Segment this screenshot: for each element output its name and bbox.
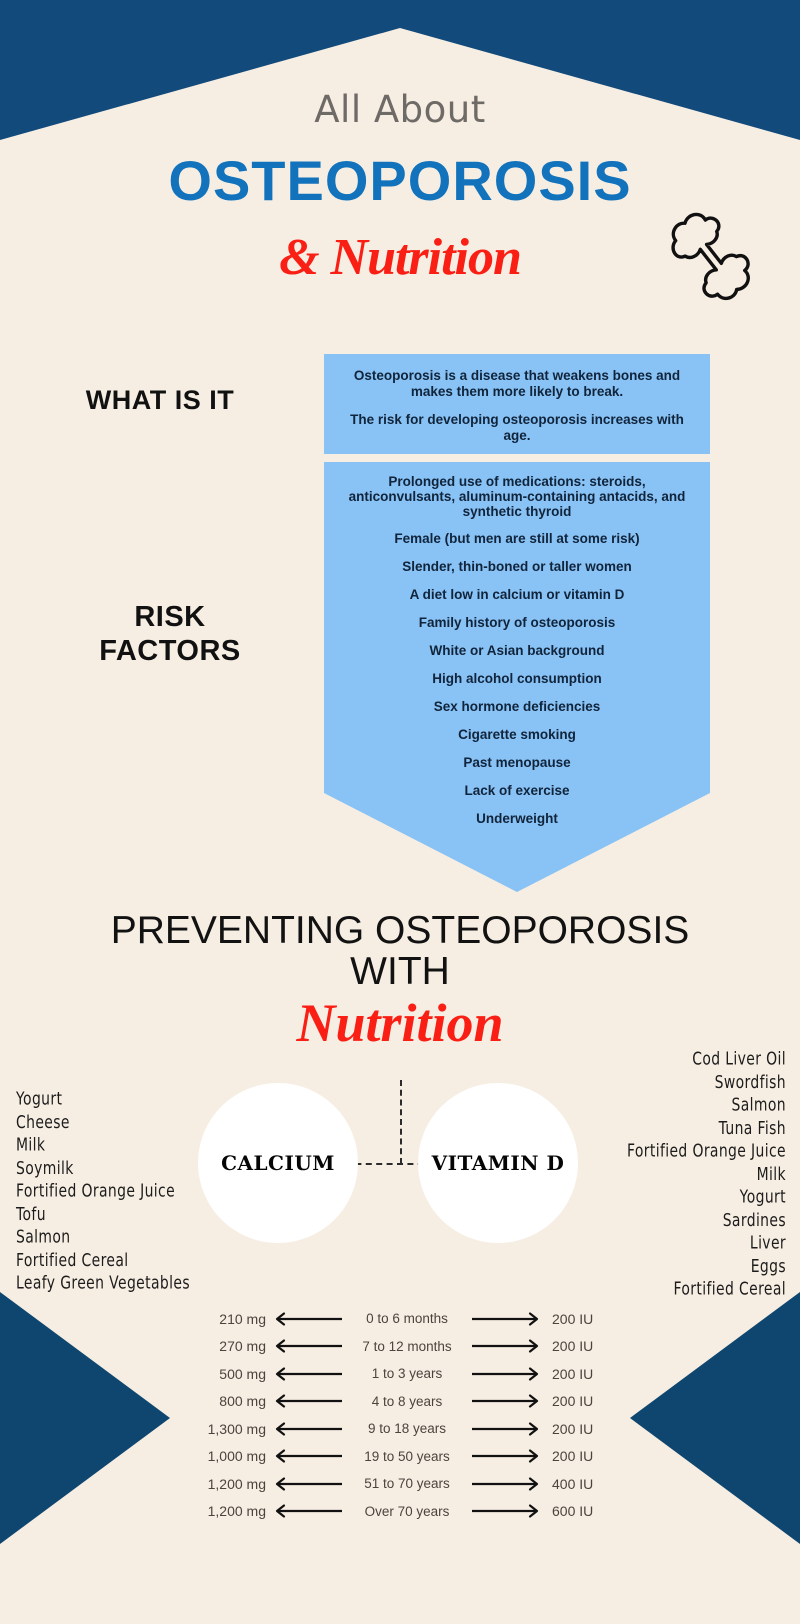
- calcium-food-item: Yogurt: [16, 1088, 239, 1111]
- calcium-value: 800 mg: [170, 1393, 272, 1409]
- calcium-value: 1,200 mg: [170, 1476, 272, 1492]
- vitamin-d-value: 200 IU: [542, 1393, 630, 1409]
- what-is-it-paragraph: Osteoporosis is a disease that weakens b…: [338, 368, 696, 400]
- table-row: 500 mg1 to 3 years200 IU: [170, 1360, 630, 1388]
- calcium-value: 1,200 mg: [170, 1503, 272, 1519]
- infographic-canvas: All About OSTEOPOROSIS & Nutrition WHAT …: [0, 0, 800, 1624]
- arrow-left-icon: [272, 1476, 346, 1492]
- vitamin-d-value: 400 IU: [542, 1476, 630, 1492]
- calcium-value: 210 mg: [170, 1311, 272, 1327]
- age-range: 4 to 8 years: [346, 1394, 468, 1409]
- risk-factor-item: Sex hormone deficiencies: [324, 699, 710, 715]
- header-eyebrow: All About: [0, 88, 800, 131]
- risk-factors-label-line1: RISK: [20, 600, 320, 634]
- risk-factor-item: Prolonged use of medications: steroids, …: [324, 474, 710, 519]
- arrow-right-icon: [468, 1448, 542, 1464]
- prevention-heading-script: Nutrition: [0, 992, 800, 1054]
- age-range: 1 to 3 years: [346, 1366, 468, 1381]
- bottom-left-triangle: [0, 1292, 170, 1544]
- arrow-right-icon: [468, 1476, 542, 1492]
- arrow-left-icon: [272, 1311, 346, 1327]
- vitamin-d-value: 200 IU: [542, 1366, 630, 1382]
- vitamin-d-food-item: Yogurt: [526, 1186, 786, 1209]
- vitamin-d-food-item: Cod Liver Oil: [526, 1048, 786, 1071]
- arrow-right-icon: [468, 1393, 542, 1409]
- age-range: 7 to 12 months: [346, 1339, 468, 1354]
- calcium-food-item: Soymilk: [16, 1157, 239, 1180]
- arrow-left-icon: [272, 1338, 346, 1354]
- risk-factor-item: High alcohol consumption: [324, 671, 710, 687]
- vitamin-d-value: 200 IU: [542, 1448, 630, 1464]
- vitamin-d-food-item: Fortified Orange Juice: [526, 1140, 786, 1163]
- bottom-right-triangle: [630, 1292, 800, 1544]
- risk-factor-item: A diet low in calcium or vitamin D: [324, 587, 710, 603]
- what-is-it-label: WHAT IS IT: [20, 385, 300, 416]
- vitamin-d-food-list: Cod Liver Oil Swordfish Salmon Tuna Fish…: [526, 1048, 786, 1301]
- arrow-right-icon: [468, 1338, 542, 1354]
- vitamin-d-food-item: Fortified Cereal: [526, 1278, 786, 1301]
- prevention-heading: PREVENTING OSTEOPOROSIS WITH: [0, 910, 800, 992]
- vitamin-d-food-item: Salmon: [526, 1094, 786, 1117]
- risk-factor-item: Cigarette smoking: [324, 727, 710, 743]
- risk-factor-item: Slender, thin-boned or taller women: [324, 559, 710, 575]
- calcium-food-item: Fortified Orange Juice: [16, 1180, 239, 1203]
- calcium-value: 1,300 mg: [170, 1421, 272, 1437]
- risk-factor-item: Underweight: [324, 811, 710, 827]
- arrow-left-icon: [272, 1393, 346, 1409]
- vitamin-d-food-item: Milk: [526, 1163, 786, 1186]
- age-range: Over 70 years: [346, 1504, 468, 1519]
- vitamin-d-value: 200 IU: [542, 1421, 630, 1437]
- vitamin-d-food-item: Sardines: [526, 1209, 786, 1232]
- vitamin-d-value: 200 IU: [542, 1311, 630, 1327]
- vitamin-d-value: 600 IU: [542, 1503, 630, 1519]
- calcium-food-item: Cheese: [16, 1111, 239, 1134]
- what-is-it-paragraph: The risk for developing osteoporosis inc…: [338, 412, 696, 444]
- table-row: 270 mg7 to 12 months200 IU: [170, 1333, 630, 1361]
- calcium-food-item: Salmon: [16, 1226, 239, 1249]
- table-row: 1,000 mg19 to 50 years200 IU: [170, 1443, 630, 1471]
- age-range: 51 to 70 years: [346, 1476, 468, 1491]
- arrow-left-icon: [272, 1503, 346, 1519]
- arrow-left-icon: [272, 1421, 346, 1437]
- age-range: 19 to 50 years: [346, 1449, 468, 1464]
- prevention-heading-line1: PREVENTING OSTEOPOROSIS: [0, 910, 800, 951]
- what-is-it-box: Osteoporosis is a disease that weakens b…: [324, 354, 710, 454]
- risk-factors-label-line2: FACTORS: [20, 634, 320, 668]
- calcium-value: 270 mg: [170, 1338, 272, 1354]
- connector-vertical-dashed: [400, 1080, 402, 1164]
- risk-factor-item: Past menopause: [324, 755, 710, 771]
- vitamin-d-food-item: Eggs: [526, 1255, 786, 1278]
- arrow-left-icon: [272, 1366, 346, 1382]
- calcium-value: 500 mg: [170, 1366, 272, 1382]
- vitamin-d-food-item: Liver: [526, 1232, 786, 1255]
- table-row: 210 mg0 to 6 months200 IU: [170, 1305, 630, 1333]
- table-row: 800 mg4 to 8 years200 IU: [170, 1388, 630, 1416]
- risk-factor-item: White or Asian background: [324, 643, 710, 659]
- age-range: 9 to 18 years: [346, 1421, 468, 1436]
- arrow-right-icon: [468, 1366, 542, 1382]
- arrow-left-icon: [272, 1448, 346, 1464]
- bone-icon: [648, 196, 768, 316]
- vitamin-d-value: 200 IU: [542, 1338, 630, 1354]
- calcium-food-list: Yogurt Cheese Milk Soymilk Fortified Ora…: [16, 1088, 239, 1295]
- vitamin-d-food-item: Tuna Fish: [526, 1117, 786, 1140]
- calcium-food-item: Leafy Green Vegetables: [16, 1272, 239, 1295]
- arrow-right-icon: [468, 1503, 542, 1519]
- calcium-food-item: Fortified Cereal: [16, 1249, 239, 1272]
- risk-factors-box: Prolonged use of medications: steroids, …: [324, 462, 710, 892]
- calcium-value: 1,000 mg: [170, 1448, 272, 1464]
- table-row: 1,200 mg51 to 70 years400 IU: [170, 1470, 630, 1498]
- daily-intake-table: 210 mg0 to 6 months200 IU270 mg7 to 12 m…: [170, 1305, 630, 1525]
- risk-factors-label: RISK FACTORS: [20, 600, 320, 668]
- arrow-right-icon: [468, 1421, 542, 1437]
- risk-factor-item: Family history of osteoporosis: [324, 615, 710, 631]
- risk-factor-item: Female (but men are still at some risk): [324, 531, 710, 547]
- vitamin-d-food-item: Swordfish: [526, 1071, 786, 1094]
- prevention-heading-line2: WITH: [0, 951, 800, 992]
- calcium-food-item: Tofu: [16, 1203, 239, 1226]
- risk-factor-item: Lack of exercise: [324, 783, 710, 799]
- table-row: 1,300 mg9 to 18 years200 IU: [170, 1415, 630, 1443]
- arrow-right-icon: [468, 1311, 542, 1327]
- table-row: 1,200 mgOver 70 years600 IU: [170, 1498, 630, 1526]
- calcium-food-item: Milk: [16, 1134, 239, 1157]
- age-range: 0 to 6 months: [346, 1311, 468, 1326]
